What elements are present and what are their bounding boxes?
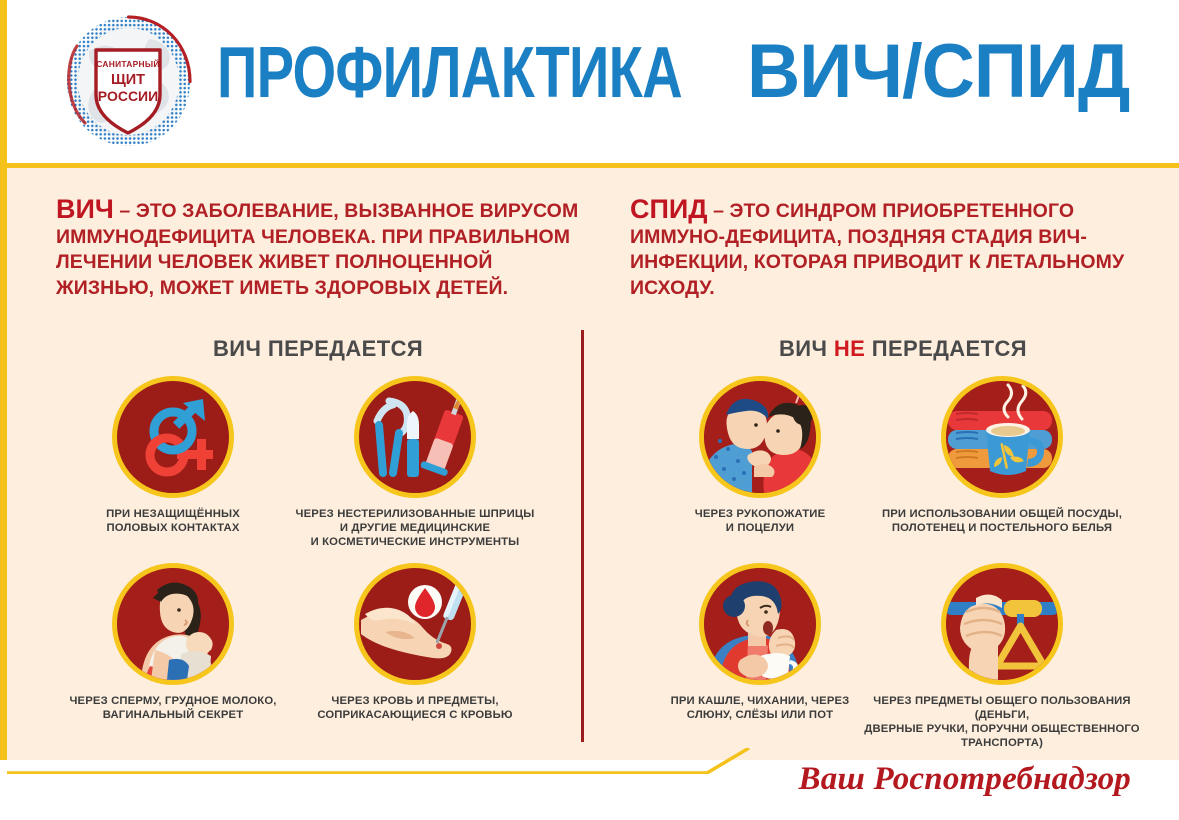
transmission-item-non-sterile-instruments: ЧЕРЕЗ НЕСТЕРИЛИЗОВАННЫЕ ШПРИЦЫ И ДРУГИЕ … (280, 376, 550, 549)
couple-kissing-icon (699, 376, 821, 498)
gender-symbols-icon (112, 376, 234, 498)
non-transmission-caption: ПРИ ИСПОЛЬЗОВАНИИ ОБЩЕЙ ПОСУДЫ, ПОЛОТЕНЕ… (852, 507, 1152, 535)
definition-aids: СПИД – ЭТО СИНДРОМ ПРИОБРЕТЕННОГО ИММУНО… (630, 197, 1150, 301)
footer-brand-text: Ваш Роспотребнадзор (799, 761, 1132, 798)
sanitary-shield-of-russia-logo: САНИТАРНЫЙ ЩИТ РОССИИ (53, 11, 204, 152)
transmission-caption: ЧЕРЕЗ НЕСТЕРИЛИЗОВАННЫЕ ШПРИЦЫ И ДРУГИЕ … (265, 507, 565, 549)
page-title: ПРОФИЛАКТИКАВИЧ/СПИД (217, 34, 1141, 110)
breastfeeding-mother-icon (112, 563, 234, 685)
coughing-woman-with-mug-icon (699, 563, 821, 685)
heading-prefix: ВИЧ (779, 336, 834, 361)
svg-text:РОССИИ: РОССИИ (98, 88, 158, 104)
towels-and-mug-icon (941, 376, 1063, 498)
definition-aids-lead: СПИД (630, 194, 708, 224)
hand-blood-drop-lancet-icon (354, 563, 476, 685)
page-title-part1: ПРОФИЛАКТИКА (217, 37, 682, 109)
footer-gold-chevron (7, 748, 767, 774)
left-gold-rail (0, 0, 7, 820)
page-title-part2: ВИЧ/СПИД (747, 34, 1129, 110)
definitions-block: ВИЧ – ЭТО ЗАБОЛЕВАНИЕ, ВЫЗВАННОЕ ВИРУСОМ… (0, 185, 1179, 305)
non-transmission-item-shared-objects: ЧЕРЕЗ ПРЕДМЕТЫ ОБЩЕГО ПОЛЬЗОВАНИЯ (ДЕНЬГ… (867, 563, 1137, 750)
transmission-item-breast-milk: ЧЕРЕЗ СПЕРМУ, ГРУДНОЕ МОЛОКО, ВАГИНАЛЬНЫ… (38, 563, 308, 722)
transmission-caption: ЧЕРЕЗ СПЕРМУ, ГРУДНОЕ МОЛОКО, ВАГИНАЛЬНЫ… (38, 694, 308, 722)
definition-hiv-text: – ЭТО ЗАБОЛЕВАНИЕ, ВЫЗВАННОЕ ВИРУСОМ ИММ… (56, 200, 578, 299)
section-heading-not-transmitted: ВИЧ НЕ ПЕРЕДАЕТСЯ (779, 336, 1027, 362)
non-transmission-item-shared-dishes: ПРИ ИСПОЛЬЗОВАНИИ ОБЩЕЙ ПОСУДЫ, ПОЛОТЕНЕ… (867, 376, 1137, 535)
hand-on-transit-handrail-icon (941, 563, 1063, 685)
svg-text:САНИТАРНЫЙ: САНИТАРНЫЙ (96, 58, 159, 69)
transmission-item-blood-contact: ЧЕРЕЗ КРОВЬ И ПРЕДМЕТЫ, СОПРИКАСАЮЩИЕСЯ … (280, 563, 550, 722)
column-divider (581, 330, 584, 742)
transmission-caption: ЧЕРЕЗ КРОВЬ И ПРЕДМЕТЫ, СОПРИКАСАЮЩИЕСЯ … (280, 694, 550, 722)
svg-text:ЩИТ: ЩИТ (111, 72, 145, 88)
section-heading-transmitted-label: ВИЧ ПЕРЕДАЕТСЯ (213, 336, 423, 361)
non-transmission-caption: ЧЕРЕЗ ПРЕДМЕТЫ ОБЩЕГО ПОЛЬЗОВАНИЯ (ДЕНЬГ… (852, 694, 1152, 750)
section-heading-transmitted: ВИЧ ПЕРЕДАЕТСЯ (213, 336, 423, 362)
heading-suffix: ПЕРЕДАЕТСЯ (865, 336, 1027, 361)
definition-hiv-lead: ВИЧ (56, 194, 114, 224)
poster-header: САНИТАРНЫЙ ЩИТ РОССИИ ПРОФИЛАКТИКАВИЧ/СП… (7, 0, 1179, 163)
definition-hiv: ВИЧ – ЭТО ЗАБОЛЕВАНИЕ, ВЫЗВАННОЕ ВИРУСОМ… (56, 197, 586, 301)
heading-negation: НЕ (834, 336, 865, 361)
medical-instruments-syringe-icon (354, 376, 476, 498)
poster-root: САНИТАРНЫЙ ЩИТ РОССИИ ПРОФИЛАКТИКАВИЧ/СП… (0, 0, 1179, 820)
